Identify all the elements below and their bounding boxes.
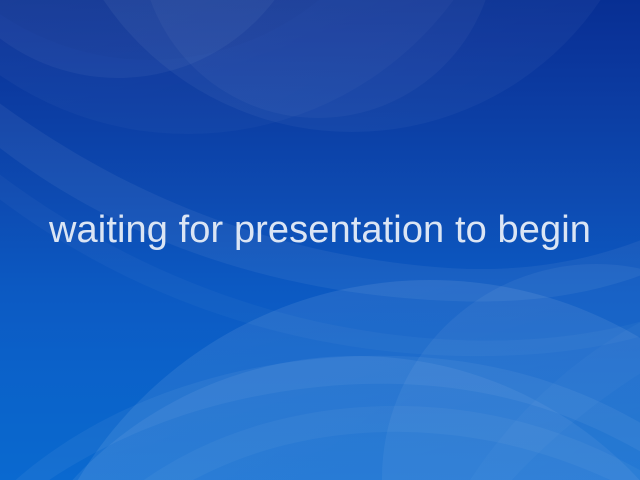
slide-title: waiting for presentation to begin [49,209,591,253]
presentation-slide: waiting for presentation to begin [0,0,640,480]
decor-circle-top-highlight [0,0,314,78]
decor-circle-top-right [52,0,640,132]
slide-title-block: waiting for presentation to begin [0,196,640,266]
decor-circle-top-inner-dark [0,0,418,60]
decor-circle-top-lens [140,0,496,118]
decor-band-bottom-right [470,296,640,480]
decor-circle-bottom-inner [0,356,640,480]
decor-swoosh-bottom [0,356,640,480]
decor-circle-top-large [0,0,518,134]
decor-circle-bottom-right-highlight [382,264,640,480]
decor-arc-bottom-inner [96,406,640,480]
decor-circle-bottom-large [20,280,640,480]
